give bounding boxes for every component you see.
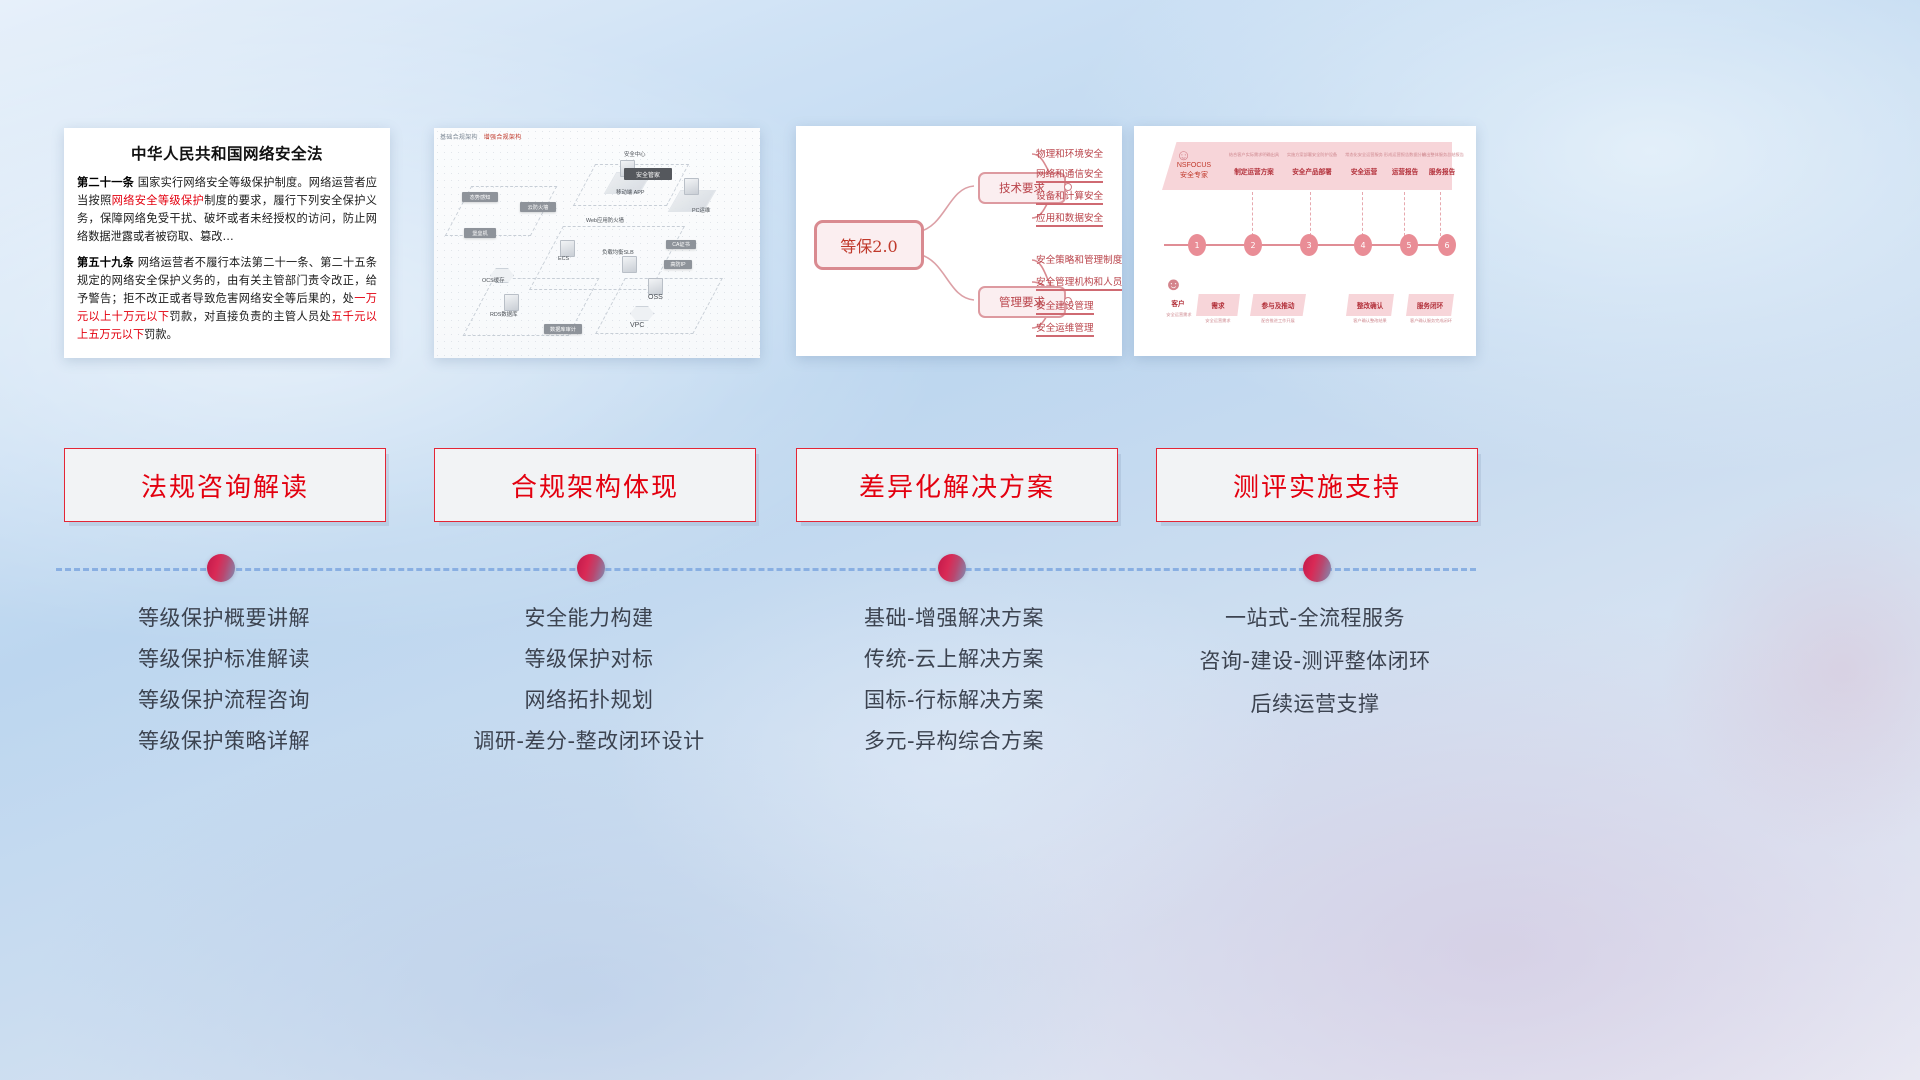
diagram-node-anti-ddos: 高防IP (664, 260, 692, 269)
section-header-differentiated-solution[interactable]: 差异化解决方案 (796, 448, 1118, 522)
card-mindmap-dengbao[interactable]: 等保2.0 技术要求 管理要求 物理和环境安全 网络和通信安全 设备和计算安全 … (796, 126, 1122, 356)
detail-list-solution: 基础-增强解决方案 传统-云上解决方案 国标-行标解决方案 多元-异构综合方案 (789, 608, 1119, 772)
server-cube-2 (684, 178, 699, 195)
list-item: 等级保护策略详解 (59, 731, 389, 752)
diagram-node-db-audit: 数据库审计 (544, 324, 582, 334)
server-cube-4 (622, 256, 637, 273)
card-service-timeline[interactable]: ☺ NSFOCUS 安全专家 结合客户实际需求明确出具 制定运营方案 实施方案部… (1134, 126, 1476, 356)
list-item: 等级保护流程咨询 (59, 690, 389, 711)
list-item: 等级保护概要讲解 (59, 608, 389, 629)
drop-line-1 (1252, 192, 1255, 236)
timeline-marker-1[interactable] (207, 554, 235, 582)
banner-sub-1: 结合客户实际需求明确出具 (1226, 152, 1282, 158)
banner-sub-2: 实施方案部署安全防护设备 (1284, 152, 1340, 158)
service-timeline-diagram: ☺ NSFOCUS 安全专家 结合客户实际需求明确出具 制定运营方案 实施方案部… (1134, 126, 1476, 356)
list-item: 等级保护标准解读 (59, 649, 389, 670)
section-header-assessment-support[interactable]: 测评实施支持 (1156, 448, 1478, 522)
law-article-21-label: 第二十一条 (77, 176, 134, 189)
mindmap-leaf-physical-env: 物理和环境安全 (1036, 146, 1103, 161)
mindmap-leaf-network-comm: 网络和通信安全 (1036, 166, 1103, 183)
mindmap-leaf-device-compute: 设备和计算安全 (1036, 188, 1103, 205)
diagram-label-vpc: VPC (630, 322, 644, 329)
server-cube-3 (560, 240, 575, 257)
server-cube-5 (504, 294, 519, 311)
timeline-marker-3[interactable] (938, 554, 966, 582)
expert-name: NSFOCUS (1168, 162, 1220, 171)
mindmap-leaf-app-data: 应用和数据安全 (1036, 210, 1103, 227)
list-item: 传统-云上解决方案 (789, 649, 1119, 670)
list-item: 调研-差分-整改闭环设计 (424, 731, 754, 752)
law-article-59-text-b: 罚款，对直接负责的主管人员处 (169, 310, 331, 323)
tab-enhanced-architecture[interactable]: 增强合规架构 (484, 135, 522, 141)
mindmap-root-node: 等保2.0 (814, 220, 924, 270)
list-item: 后续运营支撑 (1150, 694, 1480, 715)
timeline-step-2: 2 (1244, 234, 1262, 256)
list-item: 国标-行标解决方案 (789, 690, 1119, 711)
diagram-node-bastion-host: 堡垒机 (464, 228, 496, 238)
detail-list-regulation: 等级保护概要讲解 等级保护标准解读 等级保护流程咨询 等级保护策略详解 (59, 608, 389, 772)
bottom-chip-2: 参与及推动 (1250, 294, 1306, 316)
list-item: 咨询-建设-测评整体闭环 (1150, 651, 1480, 672)
diagram-label-oss: OSS (648, 294, 663, 301)
diagram-label-ocs: OCS缓存 (482, 276, 504, 284)
bottom-chip-3: 整改确认 (1346, 294, 1394, 316)
server-cube-6 (648, 278, 663, 295)
drop-line-2 (1310, 192, 1313, 236)
list-item: 多元-异构综合方案 (789, 731, 1119, 752)
diagram-node-ca-cert: CA证书 (666, 240, 696, 249)
customer-label: 客户 (1158, 298, 1198, 308)
banner-sub-4: 形成运营报告数据分析 (1384, 152, 1426, 158)
diagram-node-security-steward: 安全管家 (624, 168, 672, 180)
pill-label-2: 差异化解决方案 (859, 467, 1055, 504)
mindmap: 等保2.0 技术要求 管理要求 物理和环境安全 网络和通信安全 设备和计算安全 … (796, 126, 1122, 356)
mindmap-leaf-org-personnel: 安全管理机构和人员 (1036, 274, 1122, 291)
diagram-tabs: 基础合规架构 增强合规架构 (440, 132, 522, 141)
thumbnail-card-row: 中华人民共和国网络安全法 第二十一条 国家实行网络安全等级保护制度。网络运营者应… (0, 0, 1920, 1080)
diagram-node-cloud-firewall: 云防火墙 (520, 202, 556, 212)
bottom-chip-sub-4: 客户确认服务完成闭环 (1400, 318, 1462, 324)
card-compliance-architecture[interactable]: 基础合规架构 增强合规架构 安全管家 云防火墙 态势感知 堡垒机 (434, 128, 760, 358)
banner-sub-5: 输出整体服务总结报告 (1422, 152, 1462, 158)
law-document: 中华人民共和国网络安全法 第二十一条 国家实行网络安全等级保护制度。网络运营者应… (64, 128, 390, 358)
card-cybersecurity-law[interactable]: 中华人民共和国网络安全法 第二十一条 国家实行网络安全等级保护制度。网络运营者应… (64, 128, 390, 358)
detail-list-architecture: 安全能力构建 等级保护对标 网络拓扑规划 调研-差分-整改闭环设计 (424, 608, 754, 772)
bottom-chip-1: 需求 (1196, 294, 1240, 316)
law-article-59-text-c: 罚款。 (144, 328, 178, 341)
banner-item-5: 服务报告 (1422, 166, 1462, 176)
bottom-chip-sub-3: 客户确认整改结果 (1340, 318, 1400, 324)
bottom-chip-4: 服务闭环 (1406, 294, 1454, 316)
person-star-icon: ☺ (1176, 148, 1191, 163)
mindmap-leaf-ops-mgmt: 安全运维管理 (1036, 320, 1094, 337)
mindmap-leaf-construction-mgmt: 安全建设管理 (1036, 298, 1094, 315)
timeline-dashed-line (56, 568, 1476, 571)
tab-basic-architecture[interactable]: 基础合规架构 (440, 135, 478, 141)
timeline-marker-4[interactable] (1303, 554, 1331, 582)
timeline-step-3: 3 (1300, 234, 1318, 256)
banner-item-3: 安全运营 (1342, 166, 1386, 176)
bottom-chip-sub-1: 安全运营需求 (1194, 318, 1242, 324)
pill-label-0: 法规咨询解读 (141, 467, 309, 504)
diagram-label-waf: Web应用防火墙 (586, 216, 624, 224)
pill-label-1: 合规架构体现 (511, 467, 679, 504)
timeline-step-5: 5 (1400, 234, 1418, 256)
diagram-label-slb: 负载均衡SLB (602, 248, 634, 256)
diagram-label-ecs: ECS (558, 256, 569, 262)
bottom-chip-sub-2: 配合推进工作开展 (1248, 318, 1308, 324)
section-header-regulation-consulting[interactable]: 法规咨询解读 (64, 448, 386, 522)
law-title: 中华人民共和国网络安全法 (77, 142, 377, 164)
drop-line-4 (1404, 192, 1407, 236)
diagram-label-mobile-app: 移动端 APP (616, 188, 644, 196)
detail-list-assessment: 一站式-全流程服务 咨询-建设-测评整体闭环 后续运营支撑 (1150, 608, 1480, 737)
law-article-21-highlight: 网络安全等级保护 (112, 194, 204, 207)
diagram-label-pc-ops: PC运维 (692, 206, 710, 214)
banner-sub-3: 常态化安全运营服务 (1342, 152, 1386, 158)
timeline-step-1: 1 (1188, 234, 1206, 256)
timeline-marker-2[interactable] (577, 554, 605, 582)
section-header-compliance-architecture[interactable]: 合规架构体现 (434, 448, 756, 522)
diagram-label-rds: RDS数据库 (490, 310, 518, 318)
law-paragraph-59: 第五十九条 网络运营者不履行本法第二十一条、第二十五条规定的网络安全保护义务的，… (77, 254, 377, 345)
list-item: 等级保护对标 (424, 649, 754, 670)
law-paragraph-21: 第二十一条 国家实行网络安全等级保护制度。网络运营者应当按照网络安全等级保护制度… (77, 174, 377, 247)
banner-item-4: 运营报告 (1384, 166, 1426, 176)
expert-role: 安全专家 (1168, 172, 1220, 181)
mindmap-leaf-policy-system: 安全策略和管理制度 (1036, 252, 1122, 267)
list-item: 安全能力构建 (424, 608, 754, 629)
diagram-label-security-center: 安全中心 (624, 150, 646, 158)
list-item: 网络拓扑规划 (424, 690, 754, 711)
diagram-node-situational-awareness: 态势感知 (462, 192, 498, 202)
list-item: 一站式-全流程服务 (1150, 608, 1480, 629)
law-article-59-label: 第五十九条 (77, 256, 134, 269)
timeline-step-6: 6 (1438, 234, 1456, 256)
list-item: 基础-增强解决方案 (789, 608, 1119, 629)
customer-person-icon: ☻ (1164, 274, 1183, 295)
pill-label-3: 测评实施支持 (1233, 467, 1401, 504)
architecture-diagram: 基础合规架构 增强合规架构 安全管家 云防火墙 态势感知 堡垒机 (434, 128, 760, 358)
drop-line-3 (1362, 192, 1365, 236)
banner-item-2: 安全产品部署 (1284, 166, 1340, 176)
drop-line-5 (1440, 192, 1443, 236)
timeline-step-4: 4 (1354, 234, 1372, 256)
banner-item-1: 制定运营方案 (1226, 166, 1282, 176)
